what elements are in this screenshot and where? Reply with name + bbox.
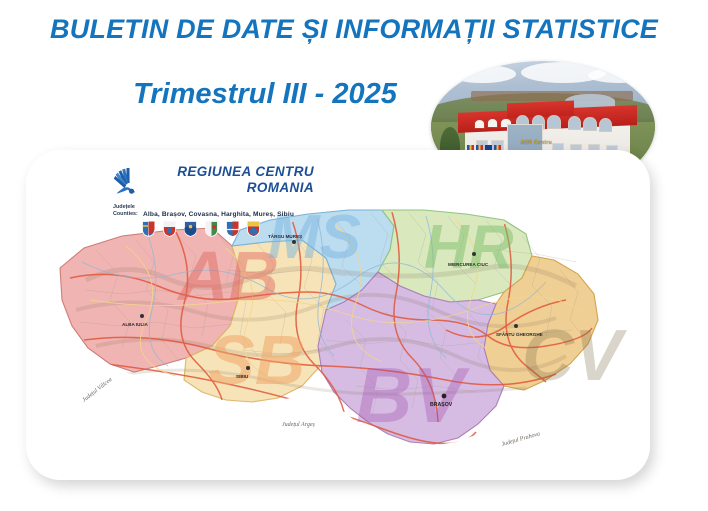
counties-list: Alba, Brașov, Covasna, Harghita, Mureș, … bbox=[143, 211, 294, 218]
photo-arched-window bbox=[547, 115, 560, 129]
map-label-BV: BV bbox=[356, 351, 470, 439]
logo-line-2: ROMANIA bbox=[149, 180, 314, 196]
map-label-AB: AB bbox=[176, 237, 279, 315]
bulletin-cover-page: BULETIN DE DATE ȘI INFORMAȚII STATISTICE… bbox=[0, 0, 708, 511]
map-city-sfantu-gheorghe: SFÂNTU GHEORGHE bbox=[496, 331, 543, 337]
page-title: BULETIN DE DATE ȘI INFORMAȚII STATISTICE bbox=[0, 14, 708, 45]
photo-cloud bbox=[588, 68, 651, 84]
regiunea-centru-map-svg: AB SB MS HR BV CV ALBA IULIA SIBIU TÂRGU… bbox=[26, 150, 650, 480]
map-label-CV: CV bbox=[522, 316, 628, 396]
logo-wordmark: REGIUNEA CENTRU ROMANIA bbox=[149, 164, 314, 196]
photo-arched-window bbox=[583, 117, 596, 131]
photo-building-sign: ADR Centru bbox=[521, 140, 552, 146]
map-label-SB: SB bbox=[208, 321, 305, 399]
map-neighbour-prahova: Județul Prahova bbox=[501, 431, 541, 448]
photo-dormer bbox=[487, 118, 498, 128]
shield-brasov bbox=[163, 221, 176, 237]
map-neighbour-valcea: Județul Vâlcea bbox=[82, 377, 114, 404]
shield-harghita bbox=[205, 221, 218, 237]
map-label-HR: HR bbox=[424, 213, 514, 282]
counties-label-en: Counties: bbox=[113, 211, 138, 218]
map-city-miercurea-ciuc: MIERCUREA CIUC bbox=[448, 262, 489, 267]
photo-arched-window bbox=[568, 116, 581, 130]
map-city-brasov: BRAȘOV bbox=[430, 402, 453, 408]
shield-mures bbox=[226, 221, 239, 237]
county-shields-row bbox=[142, 221, 260, 237]
map-canvas: AB SB MS HR BV CV ALBA IULIA SIBIU TÂRGU… bbox=[26, 150, 650, 480]
shield-covasna bbox=[184, 221, 197, 237]
logo-line-1: REGIUNEA CENTRU bbox=[149, 164, 314, 180]
map-neighbour-arges: Județul Argeș bbox=[282, 422, 315, 428]
photo-dormer bbox=[474, 119, 485, 129]
map-city-targu-mures: TÂRGU MUREȘ bbox=[268, 233, 302, 240]
shield-sibiu bbox=[247, 221, 260, 237]
map-card: AB SB MS HR BV CV ALBA IULIA SIBIU TÂRGU… bbox=[26, 150, 650, 480]
shield-alba bbox=[142, 221, 155, 237]
photo-arched-window bbox=[599, 118, 612, 132]
map-city-sibiu: SIBIU bbox=[236, 374, 249, 379]
map-city-alba-iulia: ALBA IULIA bbox=[122, 322, 149, 327]
regiunea-centru-fan-logo-icon bbox=[112, 166, 142, 198]
